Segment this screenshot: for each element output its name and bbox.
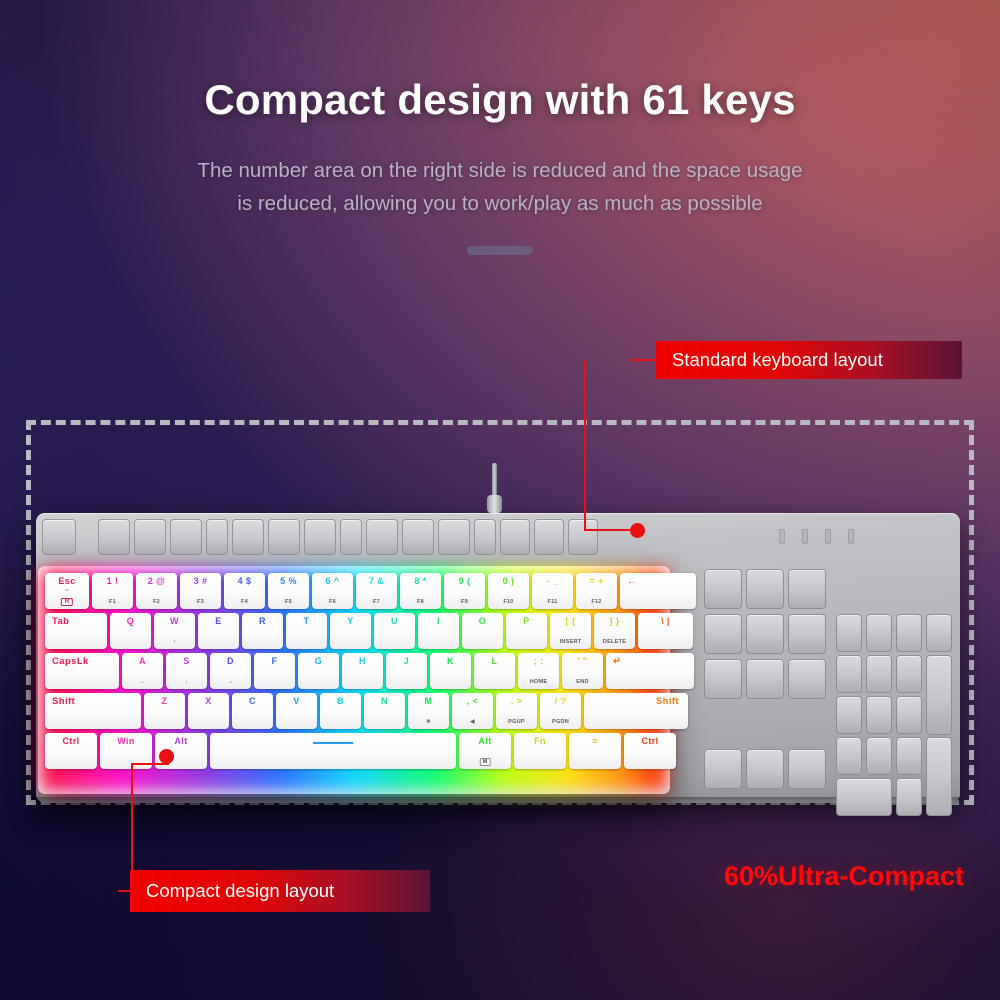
key-legend: 5 % [268,577,309,586]
key-sublabel-boxed: M [480,758,491,766]
key-g[interactable]: G [298,653,339,689]
full-keyboard-numpad-key [896,655,922,693]
key-legend: Esc [45,577,89,586]
full-keyboard-fkey [474,519,496,555]
key-legend: CapsLk [45,657,119,667]
key-space[interactable]: [ {INSERT [550,613,591,649]
key-legend: ' " [562,657,603,666]
ultra-compact-label: 60%Ultra-Compact [724,861,964,892]
key-esc[interactable]: Esc~R [45,573,89,609]
full-keyboard-arrow-key [746,749,784,789]
key-n[interactable]: N [364,693,405,729]
key-legend: N [364,697,405,706]
key-space[interactable]: ≡ [569,733,621,769]
full-keyboard-led-indicator [825,529,831,544]
compact-60-percent-keyboard: Esc~R1 !F12 @F23 #F34 $F45 %F56 ^F67 &F7… [38,566,670,794]
key-k[interactable]: K [430,653,471,689]
key-legend: ← [620,577,696,587]
key-j[interactable]: J [386,653,427,689]
key-h[interactable]: H [342,653,383,689]
full-keyboard-nav-key [746,659,784,699]
key-legend: T [286,617,327,626]
key-6[interactable]: 6 ^F6 [312,573,353,609]
key-legend: V [276,697,317,706]
full-keyboard-numpad-enter [926,737,952,816]
callout-compact-label: Compact design layout [146,880,334,902]
full-keyboard-numpad-key [926,614,952,652]
key-space[interactable]: ; :HOME [518,653,559,689]
key-legend: H [342,657,383,666]
key-space[interactable]: , <◀ [452,693,493,729]
key-legend: [ { [550,617,591,626]
callout-dot-standard [630,523,645,538]
key-4[interactable]: 4 $F4 [224,573,265,609]
key-legend: / ? [540,697,581,706]
callout-dot-compact [159,749,174,764]
key-sublabel: F9 [444,599,485,605]
compact-keyboard-keys: Esc~R1 !F12 @F23 #F34 $F45 %F56 ^F67 &F7… [45,573,663,787]
key-legend: 6 ^ [312,577,353,586]
key-legend: 9 ( [444,577,485,586]
key-y[interactable]: Y [330,613,371,649]
key-w[interactable]: W↑ [154,613,195,649]
key-s[interactable]: S↓ [166,653,207,689]
key-sublabel: F12 [576,599,617,605]
full-keyboard-fkey [134,519,166,555]
key-space[interactable]: = +F12 [576,573,617,609]
full-keyboard-led-indicator [802,529,808,544]
full-keyboard-fkey [438,519,470,555]
key-extra-legend: ~ [45,588,89,594]
key-3[interactable]: 3 #F3 [180,573,221,609]
key-sublabel: ◀ [452,719,493,725]
keyboard-row-shift-row: ShiftZXCVBNM☀, <◀. >PGUP/ ?PGDNShift [45,693,663,731]
key-space[interactable]: / ?PGDN [540,693,581,729]
callout-compact-design-layout: Compact design layout [130,870,430,912]
full-keyboard-fkey [340,519,362,555]
key-i[interactable]: I [418,613,459,649]
key-legend: Ctrl [624,737,676,746]
header: Compact design with 61 keys The number a… [0,76,1000,255]
key-2[interactable]: 2 @F2 [136,573,177,609]
key-sublabel: ↓ [166,679,207,685]
spacebar-indicator [313,742,353,744]
key-legend: Shift [584,697,688,707]
key-space[interactable] [210,733,456,769]
key-c[interactable]: C [232,693,273,729]
header-divider [467,246,533,255]
full-keyboard-numpad-key [866,737,892,775]
key-legend: 2 @ [136,577,177,586]
leader-line-standard-vertical [584,360,586,529]
key-sublabel: HOME [518,679,559,685]
key-sublabel: ↑ [154,639,195,645]
key-legend: Win [100,737,152,746]
key-5[interactable]: 5 %F5 [268,573,309,609]
full-keyboard-numpad-key [896,737,922,775]
key-r[interactable]: R [242,613,283,649]
key-ctrl[interactable]: Ctrl [45,733,97,769]
full-keyboard-nav-key [704,569,742,609]
full-keyboard-numpad-key [836,614,862,652]
full-keyboard-nav-key [788,659,826,699]
key-legend: \ | [638,617,693,626]
key-shift[interactable]: Shift [45,693,141,729]
full-keyboard-numpad-key [896,778,922,816]
full-keyboard-arrow-key [788,749,826,789]
key-legend: Alt [459,737,511,746]
full-keyboard-numpad-key [836,737,862,775]
key-space[interactable]: . >PGUP [496,693,537,729]
full-keyboard-numpad-zero [836,778,892,816]
key-sublabel: F2 [136,599,177,605]
key-sublabel: F1 [92,599,133,605]
key-legend: Shift [45,697,141,707]
key-sublabel: ← [122,679,163,685]
key-capslk[interactable]: CapsLk [45,653,119,689]
key-legend: Alt [155,737,207,746]
key-sublabel: F10 [488,599,529,605]
key-legend: K [430,657,471,666]
key-u[interactable]: U [374,613,415,649]
subtitle-line-2: is reduced, allowing you to work/play as… [0,187,1000,220]
page-title: Compact design with 61 keys [0,76,1000,124]
key-e[interactable]: E [198,613,239,649]
key-legend: 3 # [180,577,221,586]
key-legend: F [254,657,295,666]
key-sublabel: INSERT [550,639,591,645]
full-keyboard-nav-key [746,569,784,609]
full-keyboard-numpad-key [836,696,862,734]
key-legend: Ctrl [45,737,97,746]
full-keyboard-fkey [98,519,130,555]
full-keyboard-fkey [42,519,76,555]
key-legend: J [386,657,427,666]
key-t[interactable]: T [286,613,327,649]
full-keyboard-fkey [170,519,202,555]
key-q[interactable]: Q [110,613,151,649]
leader-line-standard-stub [630,359,658,361]
full-keyboard-numpad-plus [926,655,952,735]
full-keyboard-fkey [568,519,598,555]
key-ctrl[interactable]: Ctrl [624,733,676,769]
key-sublabel: F6 [312,599,353,605]
key-legend: A [122,657,163,666]
key-x[interactable]: X [188,693,229,729]
key-legend: 1 ! [92,577,133,586]
full-keyboard-fkey [304,519,336,555]
key-sublabel: F8 [400,599,441,605]
key-tab[interactable]: Tab [45,613,107,649]
full-keyboard-numpad-key [896,696,922,734]
callout-standard-keyboard-layout: Standard keyboard layout [656,341,962,379]
key-7[interactable]: 7 &F7 [356,573,397,609]
key-legend: ; : [518,657,559,666]
key-l[interactable]: L [474,653,515,689]
key-shift[interactable]: Shift [584,693,688,729]
full-keyboard-numpad-key [896,614,922,652]
full-keyboard-numpad-key [866,655,892,693]
key-legend: L [474,657,515,666]
full-keyboard-fkey [268,519,300,555]
key-sublabel: END [562,679,603,685]
key-9[interactable]: 9 (F9 [444,573,485,609]
keyboard-row-tab-row: TabQW↑ERTYUIOP[ {INSERT] }DELETE\ | [45,613,663,651]
key-sublabel: PGDN [540,719,581,725]
full-keyboard-led-indicator [848,529,854,544]
key-v[interactable]: V [276,693,317,729]
key-sublabel: F5 [268,599,309,605]
callout-standard-label: Standard keyboard layout [672,349,883,371]
key-legend: E [198,617,239,626]
key-sublabel: ☀ [408,719,449,725]
key-legend: C [232,697,273,706]
key-legend: B [320,697,361,706]
key-legend: 8 * [400,577,441,586]
key-legend: - _ [532,577,573,586]
full-keyboard-arrow-key [704,749,742,789]
key-8[interactable]: 8 *F8 [400,573,441,609]
key-sublabel: F3 [180,599,221,605]
key-legend: I [418,617,459,626]
key-m[interactable]: M☀ [408,693,449,729]
full-keyboard-nav-key [746,614,784,654]
full-keyboard-fkey [500,519,530,555]
subtitle-line-1: The number area on the right side is red… [0,154,1000,187]
key-legend: ≡ [569,737,621,746]
key-legend: U [374,617,415,626]
key-legend: P [506,617,547,626]
full-keyboard-fkey [206,519,228,555]
key-sublabel: → [210,679,251,685]
key-legend: S [166,657,207,666]
key-space[interactable]: ↵ [606,653,694,689]
key-legend: O [462,617,503,626]
full-keyboard-base-shadow [36,797,960,807]
key-space[interactable]: - _F11 [532,573,573,609]
key-space[interactable]: \ | [638,613,693,649]
cable-ferrite-core [487,495,502,513]
key-sublabel: F7 [356,599,397,605]
full-keyboard-numpad-key [836,655,862,693]
key-legend: 7 & [356,577,397,586]
keyboard-row-number-row: Esc~R1 !F12 @F23 #F34 $F45 %F56 ^F67 &F7… [45,573,663,611]
key-space[interactable]: ' "END [562,653,603,689]
key-legend: G [298,657,339,666]
key-legend: ↵ [606,657,694,667]
page-subtitle: The number area on the right side is red… [0,154,1000,220]
key-legend: X [188,697,229,706]
keyboard-cable [487,463,501,521]
key-p[interactable]: P [506,613,547,649]
full-keyboard-nav-key [788,614,826,654]
key-fn[interactable]: Fn [514,733,566,769]
key-legend: , < [452,697,493,706]
key-legend: 0 ) [488,577,529,586]
key-legend: Z [144,697,185,706]
key-legend: D [210,657,251,666]
key-legend: . > [496,697,537,706]
key-b[interactable]: B [320,693,361,729]
key-z[interactable]: Z [144,693,185,729]
key-sublabel: DELETE [594,639,635,645]
key-legend: R [242,617,283,626]
keyboard-row-caps-row: CapsLkA←S↓D→FGHJKL; :HOME' "END↵ [45,653,663,691]
key-sublabel: PGUP [496,719,537,725]
key-sublabel: F4 [224,599,265,605]
key-legend: 4 $ [224,577,265,586]
full-keyboard-nav-key [704,659,742,699]
full-keyboard-numpad-key [866,614,892,652]
full-keyboard-numpad-key [866,696,892,734]
key-alt[interactable]: AltM [459,733,511,769]
key-o[interactable]: O [462,613,503,649]
key-legend: Fn [514,737,566,746]
key-legend: M [408,697,449,706]
key-legend: Y [330,617,371,626]
full-keyboard-fkey [232,519,264,555]
key-sublabel: F11 [532,599,573,605]
keyboard-row-bottom-row: CtrlWinAltAltMFn≡Ctrl [45,733,663,771]
key-1[interactable]: 1 !F1 [92,573,133,609]
full-keyboard-fkey [534,519,564,555]
key-space[interactable]: ] }DELETE [594,613,635,649]
key-legend: = + [576,577,617,586]
key-legend: W [154,617,195,626]
key-legend: Q [110,617,151,626]
key-sublabel-boxed: R [61,598,73,606]
key-legend: ] } [594,617,635,626]
full-keyboard-fkey [366,519,398,555]
key-space[interactable]: ← [620,573,696,609]
full-keyboard-nav-key [704,614,742,654]
full-keyboard-function-row [42,519,954,559]
key-f[interactable]: F [254,653,295,689]
key-a[interactable]: A← [122,653,163,689]
full-keyboard-led-indicator [779,529,785,544]
full-keyboard-fkey [402,519,434,555]
key-0[interactable]: 0 )F10 [488,573,529,609]
key-legend: Tab [45,617,107,627]
key-d[interactable]: D→ [210,653,251,689]
full-keyboard-nav-key [788,569,826,609]
